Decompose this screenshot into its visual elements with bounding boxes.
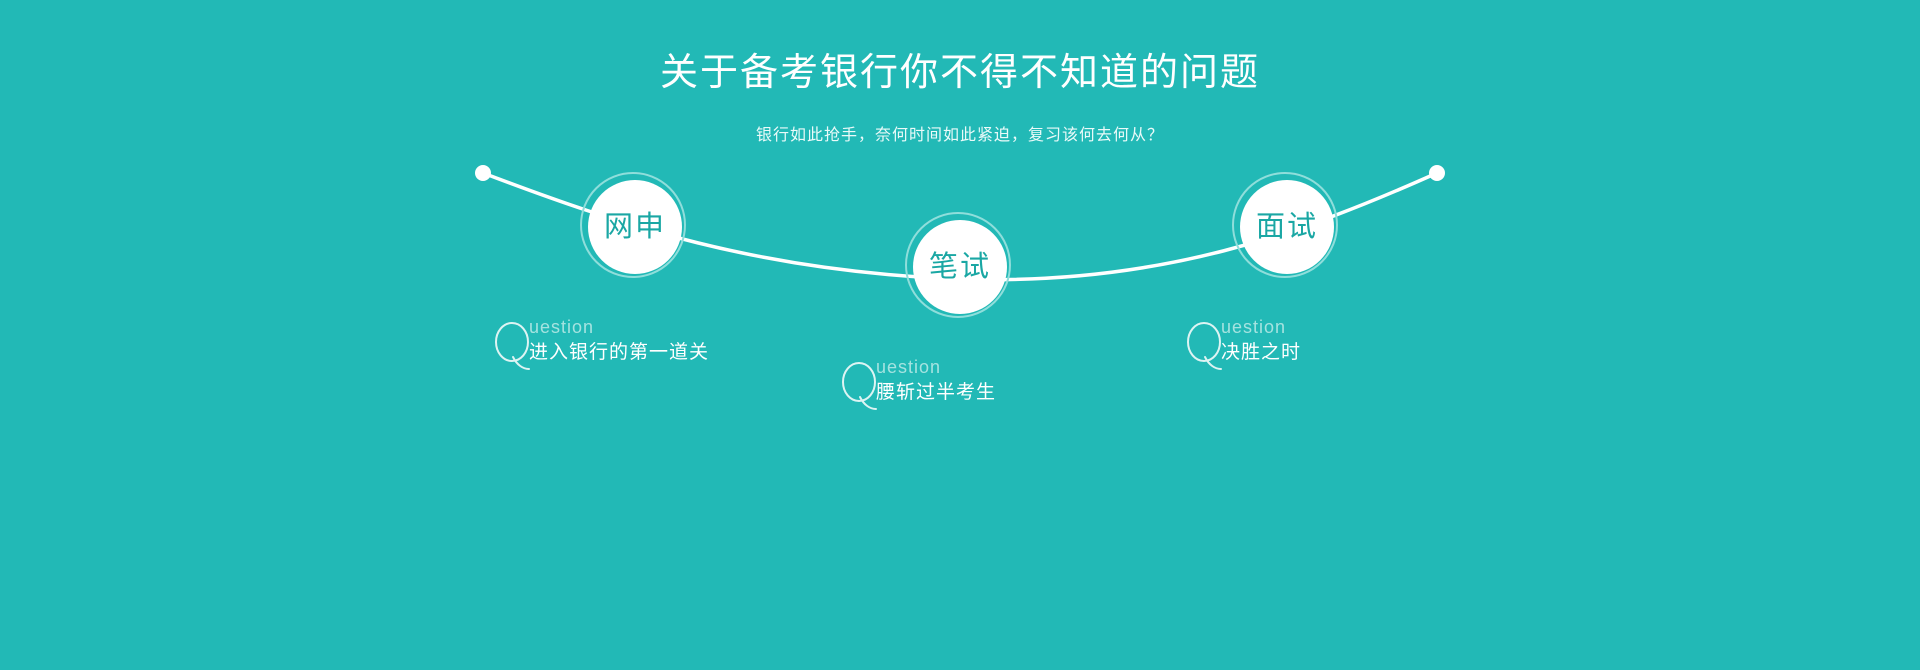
question-en-label: uestion <box>876 355 996 379</box>
curve-end-dot <box>1429 165 1445 181</box>
stage-node-disc: 面试 <box>1240 180 1334 274</box>
stage-node-label: 面试 <box>1256 213 1318 242</box>
curve-start-dot <box>475 165 491 181</box>
stage-node-disc: 网申 <box>588 180 682 274</box>
question-text-group: uestion 腰斩过半考生 <box>876 355 996 406</box>
question-block-1: uestion 进入银行的第一道关 <box>493 315 823 377</box>
promo-banner: 关于备考银行你不得不知道的问题 银行如此抢手，奈何时间如此紧迫，复习该何去何从？… <box>0 0 1920 670</box>
question-text-group: uestion 决胜之时 <box>1221 315 1301 366</box>
question-cn-label: 决胜之时 <box>1221 340 1301 366</box>
page-title: 关于备考银行你不得不知道的问题 <box>0 50 1920 96</box>
stage-node-label: 笔试 <box>929 253 991 282</box>
flow-curve <box>0 0 1920 670</box>
stage-node-label: 网申 <box>604 213 666 242</box>
question-block-2: uestion 腰斩过半考生 <box>840 355 1170 417</box>
stage-node-wangshen[interactable]: 网申 <box>580 172 690 282</box>
question-en-label: uestion <box>1221 315 1301 339</box>
page-subtitle: 银行如此抢手，奈何时间如此紧迫，复习该何去何从？ <box>0 125 1920 147</box>
question-block-3: uestion 决胜之时 <box>1185 315 1515 377</box>
stage-node-disc: 笔试 <box>913 220 1007 314</box>
stage-node-bishi[interactable]: 笔试 <box>905 212 1015 322</box>
question-en-label: uestion <box>529 315 709 339</box>
question-cn-label: 腰斩过半考生 <box>876 380 996 406</box>
question-text-group: uestion 进入银行的第一道关 <box>529 315 709 366</box>
question-cn-label: 进入银行的第一道关 <box>529 340 709 366</box>
stage-node-mianshi[interactable]: 面试 <box>1232 172 1342 282</box>
